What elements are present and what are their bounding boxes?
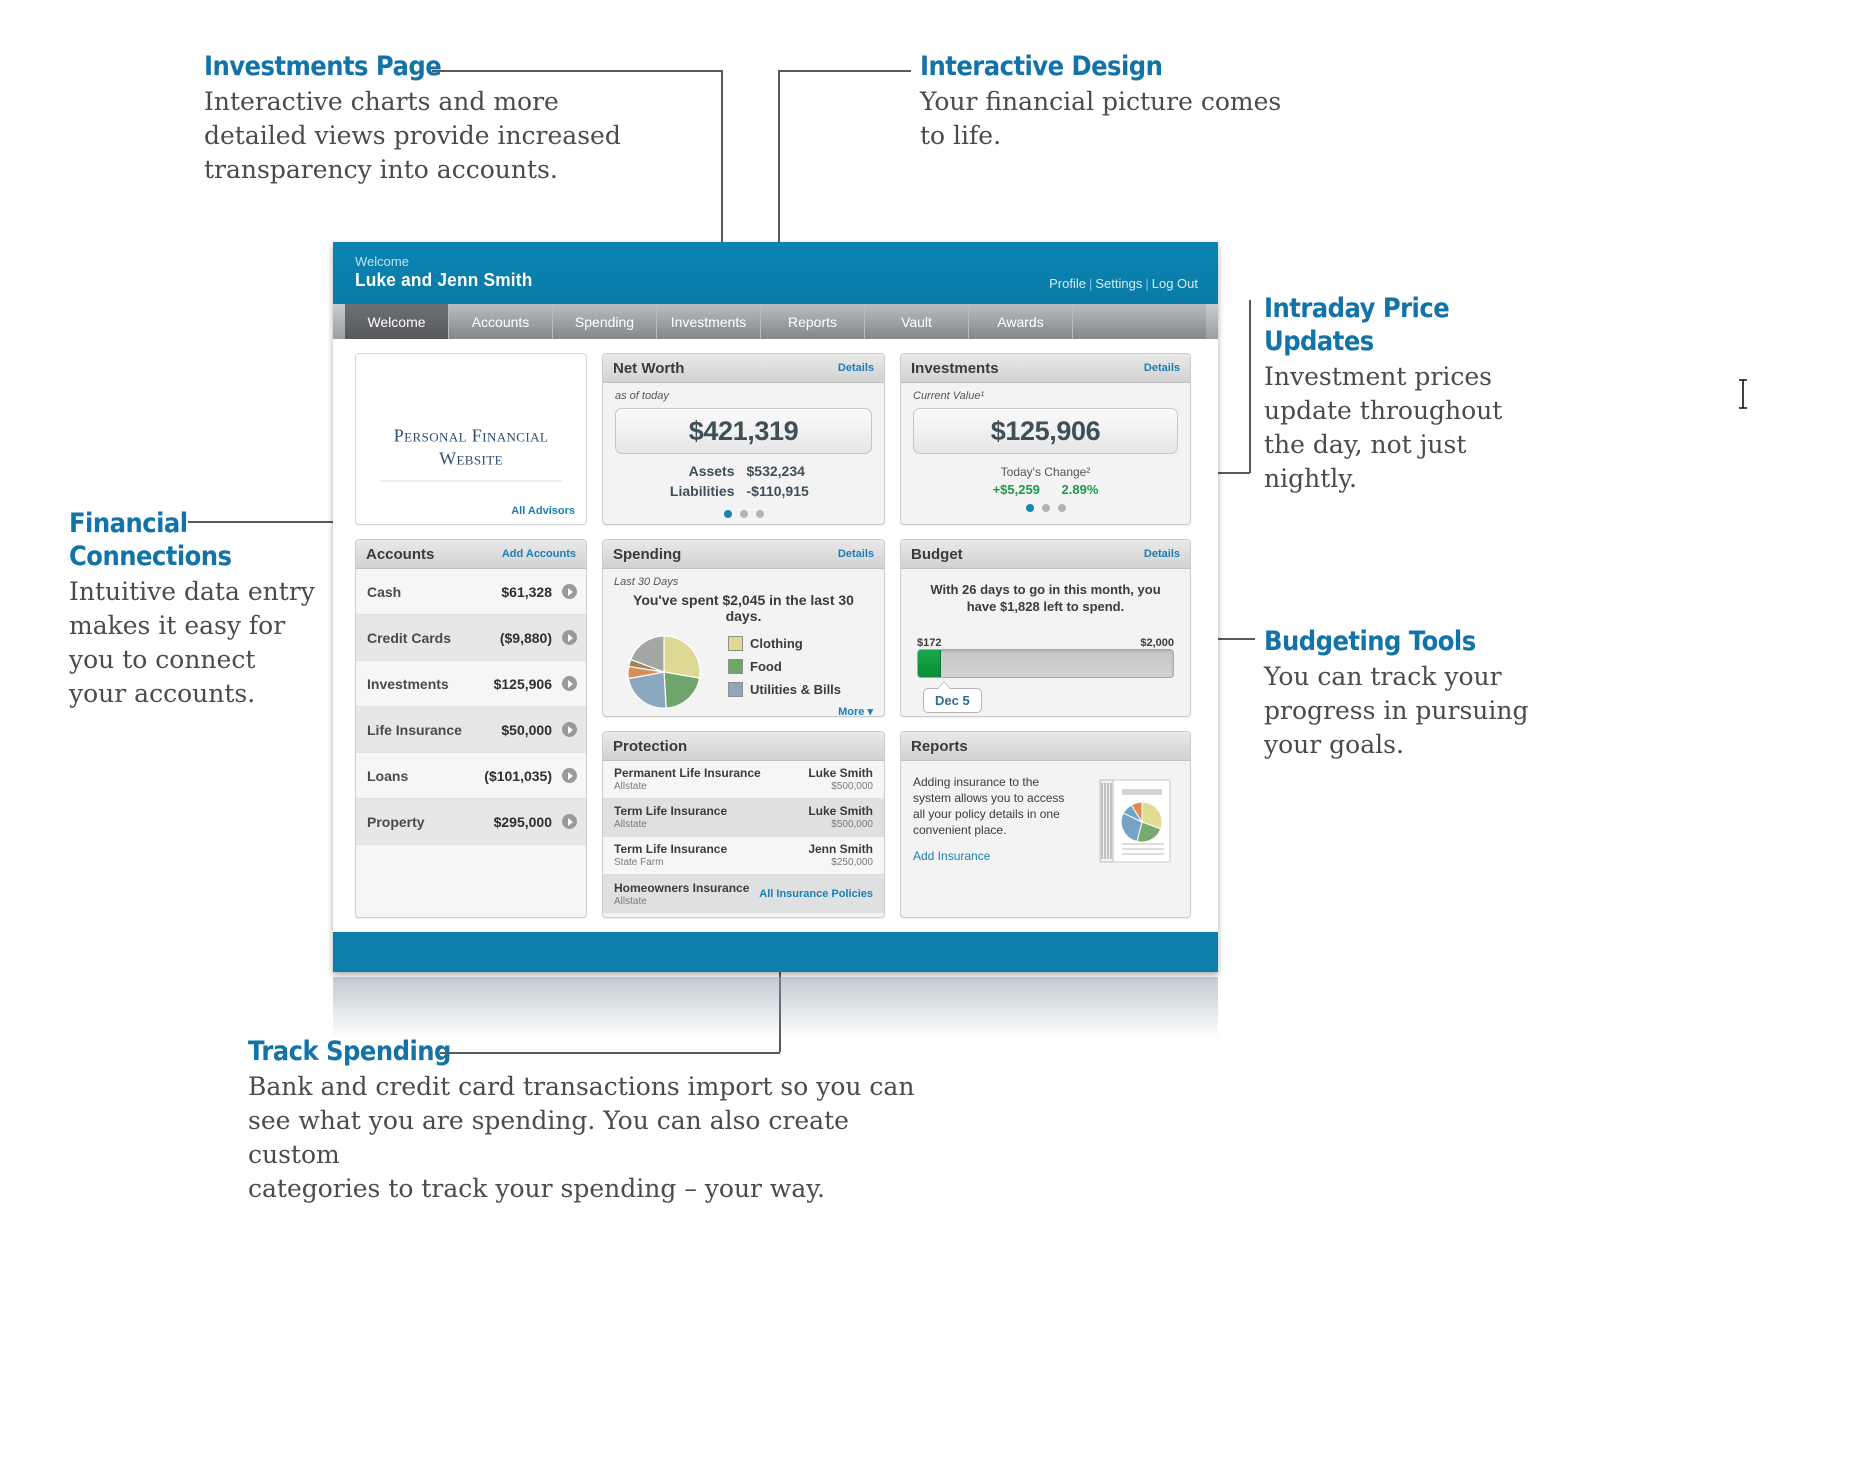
policy-carrier: Allstate: [614, 818, 727, 831]
budget-progress-fill: [918, 650, 941, 677]
policy-owner-info: Luke Smith $500,000: [808, 766, 873, 793]
callout-budgeting-tools: Budgeting Tools You can track your progr…: [1264, 625, 1564, 762]
net-worth-body: as of today $421,319 Assets $532,234 Lia…: [603, 383, 884, 525]
carousel-dot[interactable]: [756, 510, 764, 518]
reports-panel-header: Reports: [901, 732, 1190, 761]
tab-spending[interactable]: Spending: [553, 304, 657, 339]
app-header: Welcome Luke and Jenn Smith Profile|Sett…: [333, 242, 1218, 304]
net-worth-total: $421,319: [689, 416, 798, 447]
all-advisors-link[interactable]: All Advisors: [511, 505, 575, 517]
account-name: Credit Cards: [367, 630, 500, 646]
chevron-right-icon[interactable]: [562, 814, 577, 829]
logo-divider: [380, 480, 562, 481]
investments-carousel-dots: [913, 497, 1178, 521]
legend-item: Clothing: [728, 636, 873, 651]
policy-carrier: State Farm: [614, 856, 727, 869]
spending-legend: Clothing Food Utilities & Bills: [714, 630, 873, 717]
callout-title: Financial Connections: [69, 507, 312, 573]
policy-owner: Luke Smith: [808, 766, 873, 780]
carousel-dot[interactable]: [724, 510, 732, 518]
budget-spent-label: $172: [917, 637, 941, 649]
tab-reports[interactable]: Reports: [761, 304, 865, 339]
profile-link[interactable]: Profile: [1049, 276, 1086, 291]
callout-body: Intuitive data entry makes it easy for y…: [69, 575, 339, 711]
all-policies-cell: All Insurance Policies: [759, 888, 873, 900]
settings-link[interactable]: Settings: [1095, 276, 1142, 291]
liabilities-value: -$110,915: [747, 483, 839, 499]
leader-line-interactive-design: [779, 70, 911, 72]
chevron-right-icon[interactable]: [562, 676, 577, 691]
investments-value-pill: $125,906: [913, 408, 1178, 454]
investments-panel: Investments Details Current Value¹ $125,…: [900, 353, 1191, 525]
policy-amount: $250,000: [808, 856, 873, 869]
account-name: Loans: [367, 768, 484, 784]
policy-amount: $500,000: [808, 780, 873, 793]
budget-details-link[interactable]: Details: [1144, 548, 1180, 560]
accounts-panel: Accounts Add Accounts Cash $61,328 Credi…: [355, 539, 587, 918]
callout-title: Budgeting Tools: [1264, 625, 1534, 658]
report-document-icon: [1082, 774, 1178, 870]
budget-body: With 26 days to go in this month, you ha…: [901, 569, 1190, 713]
window-reflection: [333, 977, 1218, 1039]
spending-more-link[interactable]: More ▾: [728, 705, 873, 717]
application-window: Welcome Luke and Jenn Smith Profile|Sett…: [333, 242, 1218, 972]
legend-swatch-utilities: [728, 682, 743, 697]
spending-title: Spending: [613, 546, 681, 563]
accounts-list-filler: [356, 845, 586, 917]
legend-label: Clothing: [750, 636, 803, 651]
legend-label: Food: [750, 659, 782, 674]
policy-amount: $500,000: [808, 818, 873, 831]
net-worth-liabilities-row: Liabilities -$110,915: [615, 483, 872, 499]
link-separator: |: [1086, 276, 1095, 291]
policy-name: Term Life Insurance: [614, 804, 727, 818]
reports-panel: Reports Adding insurance to the system a…: [900, 731, 1191, 918]
callout-interactive-design: Interactive Design Your financial pictur…: [920, 50, 1320, 153]
spending-details-link[interactable]: Details: [838, 548, 874, 560]
policy-info: Term Life Insurance Allstate: [614, 804, 727, 831]
protection-panel: Protection Permanent Life Insurance Alls…: [602, 731, 885, 918]
table-row[interactable]: Cash $61,328: [356, 569, 586, 615]
spending-panel-header: Spending Details: [603, 540, 884, 569]
legend-swatch-clothing: [728, 636, 743, 651]
spending-period: Last 30 Days: [614, 576, 873, 588]
callout-body: Interactive charts and more detailed vie…: [204, 85, 634, 187]
change-percent: 2.89%: [1053, 482, 1108, 497]
budget-progress-bar[interactable]: [917, 649, 1174, 678]
policy-carrier: Allstate: [614, 895, 749, 908]
net-worth-carousel-dots: [615, 499, 872, 525]
carousel-dot[interactable]: [1042, 504, 1050, 512]
current-value-label: Current Value¹: [913, 390, 1178, 402]
budget-limit-label: $2,000: [1140, 637, 1174, 649]
accounts-panel-header: Accounts Add Accounts: [356, 540, 586, 569]
logout-link[interactable]: Log Out: [1152, 276, 1198, 291]
account-name: Life Insurance: [367, 722, 501, 738]
net-worth-panel-header: Net Worth Details: [603, 354, 884, 383]
carousel-dot[interactable]: [740, 510, 748, 518]
net-worth-assets-row: Assets $532,234: [615, 463, 872, 479]
accounts-title: Accounts: [366, 546, 434, 563]
all-insurance-policies-link[interactable]: All Insurance Policies: [759, 888, 873, 900]
budget-title: Budget: [911, 546, 963, 563]
investments-total: $125,906: [991, 416, 1100, 447]
protection-list: Permanent Life Insurance Allstate Luke S…: [603, 761, 884, 917]
account-value: ($101,035): [484, 768, 562, 784]
policy-name: Term Life Insurance: [614, 842, 727, 856]
investments-body: Current Value¹ $125,906 Today's Change² …: [901, 383, 1190, 521]
logo-line-2: Website: [356, 447, 586, 470]
add-accounts-link[interactable]: Add Accounts: [502, 548, 576, 560]
dashboard-grid: Personal Financial Website All Advisors …: [355, 353, 1196, 918]
tab-bar-filler: [1073, 304, 1206, 339]
spending-headline: You've spent $2,045 in the last 30 days.: [614, 592, 873, 624]
account-value: $61,328: [501, 584, 562, 600]
table-row[interactable]: Credit Cards ($9,880): [356, 615, 586, 661]
legend-swatch-food: [728, 659, 743, 674]
app-content: Personal Financial Website All Advisors …: [333, 339, 1218, 932]
callout-body: Bank and credit card transactions import…: [248, 1070, 948, 1206]
table-row[interactable]: Term Life Insurance Allstate Luke Smith …: [603, 799, 884, 837]
tab-awards[interactable]: Awards: [969, 304, 1073, 339]
callout-intraday-price-updates: Intraday Price Updates Investment prices…: [1264, 292, 1564, 496]
net-worth-title: Net Worth: [613, 360, 684, 377]
policy-info: Term Life Insurance State Farm: [614, 842, 727, 869]
policy-info: Homeowners Insurance Allstate: [614, 881, 749, 908]
policy-owner-info: Jenn Smith $250,000: [808, 842, 873, 869]
callout-body: You can track your progress in pursuing …: [1264, 660, 1564, 762]
advisor-logo-card: Personal Financial Website All Advisors: [355, 353, 587, 525]
net-worth-as-of: as of today: [615, 390, 872, 402]
tab-welcome[interactable]: Welcome: [345, 304, 449, 339]
tab-accounts[interactable]: Accounts: [449, 304, 553, 339]
policy-owner: Jenn Smith: [808, 842, 873, 856]
liabilities-label: Liabilities: [649, 483, 747, 499]
net-worth-details-link[interactable]: Details: [838, 362, 874, 374]
callout-title: Intraday Price Updates: [1264, 292, 1534, 358]
table-row[interactable]: Permanent Life Insurance Allstate Luke S…: [603, 761, 884, 799]
text-cursor-icon: [1737, 378, 1749, 410]
protection-panel-header: Protection: [603, 732, 884, 761]
policy-name: Homeowners Insurance: [614, 881, 749, 895]
carousel-dot[interactable]: [1058, 504, 1066, 512]
budget-panel-header: Budget Details: [901, 540, 1190, 569]
leader-line-track-spending: [440, 1052, 780, 1054]
assets-label: Assets: [649, 463, 747, 479]
policy-owner-info: Luke Smith $500,000: [808, 804, 873, 831]
welcome-label: Welcome: [355, 254, 1200, 269]
table-row[interactable]: Property $295,000: [356, 799, 586, 845]
chevron-right-icon[interactable]: [562, 722, 577, 737]
todays-change-label: Today's Change²: [913, 465, 1178, 479]
callout-body: Your financial picture comes to life.: [920, 85, 1320, 153]
spending-pie-chart: [614, 630, 714, 710]
policy-info: Permanent Life Insurance Allstate: [614, 766, 761, 793]
reports-description: Adding insurance to the system allows yo…: [913, 774, 1082, 838]
callout-financial-connections: Financial Connections Intuitive data ent…: [69, 507, 339, 711]
budget-headline: With 26 days to go in this month, you ha…: [917, 581, 1174, 615]
assets-value: $532,234: [747, 463, 839, 479]
chevron-right-icon[interactable]: [562, 768, 577, 783]
spending-body: Last 30 Days You've spent $2,045 in the …: [603, 569, 884, 717]
tab-bar: Welcome Accounts Spending Investments Re…: [333, 304, 1218, 339]
leader-line-intraday-vertical: [1249, 300, 1251, 473]
policy-owner: Luke Smith: [808, 804, 873, 818]
account-name: Property: [367, 814, 494, 830]
policy-name: Permanent Life Insurance: [614, 766, 761, 780]
account-value: ($9,880): [500, 630, 562, 646]
tab-vault[interactable]: Vault: [865, 304, 969, 339]
callout-title: Investments Page: [204, 50, 591, 83]
callout-body: Investment prices update throughout the …: [1264, 360, 1564, 496]
budget-date-marker: Dec 5: [923, 688, 982, 713]
spending-panel: Spending Details Last 30 Days You've spe…: [602, 539, 885, 717]
table-row[interactable]: Investments $125,906: [356, 661, 586, 707]
add-insurance-link[interactable]: Add Insurance: [913, 849, 1082, 863]
net-worth-panel: Net Worth Details as of today $421,319 A…: [602, 353, 885, 525]
account-value: $50,000: [501, 722, 562, 738]
reports-body: Adding insurance to the system allows yo…: [901, 761, 1190, 870]
protection-title: Protection: [613, 738, 687, 755]
spending-chart-area: Clothing Food Utilities & Bills: [614, 630, 873, 717]
link-separator: |: [1142, 276, 1151, 291]
table-row[interactable]: Life Insurance $50,000: [356, 707, 586, 753]
table-row[interactable]: Homeowners Insurance Allstate All Insura…: [603, 875, 884, 913]
investments-details-link[interactable]: Details: [1144, 362, 1180, 374]
account-name: Cash: [367, 584, 501, 600]
account-value: $125,906: [494, 676, 562, 692]
table-row[interactable]: Term Life Insurance State Farm Jenn Smit…: [603, 837, 884, 875]
header-links: Profile|Settings|Log Out: [1049, 276, 1198, 291]
leader-line-investments-page: [432, 70, 722, 72]
policy-carrier: Allstate: [614, 780, 761, 793]
chevron-right-icon[interactable]: [562, 630, 577, 645]
budget-panel: Budget Details With 26 days to go in thi…: [900, 539, 1191, 717]
user-name: Luke and Jenn Smith: [355, 269, 1166, 291]
net-worth-value-pill: $421,319: [615, 408, 872, 454]
more-label: More: [838, 706, 864, 717]
chevron-right-icon[interactable]: [562, 584, 577, 599]
change-amount: +$5,259: [984, 482, 1049, 497]
legend-label: Utilities & Bills: [750, 682, 841, 697]
investments-panel-header: Investments Details: [901, 354, 1190, 383]
logo-line-1: Personal Financial: [356, 424, 586, 447]
reports-title: Reports: [911, 738, 968, 755]
investments-title: Investments: [911, 360, 999, 377]
account-value: $295,000: [494, 814, 562, 830]
callout-title: Interactive Design: [920, 50, 1280, 83]
carousel-dot[interactable]: [1026, 504, 1034, 512]
callout-track-spending: Track Spending Bank and credit card tran…: [248, 1035, 948, 1206]
budget-bar-labels: $172 $2,000: [917, 637, 1174, 649]
accounts-list: Cash $61,328 Credit Cards ($9,880) Inves…: [356, 569, 586, 917]
account-name: Investments: [367, 676, 494, 692]
todays-change-values: +$5,259 2.89%: [913, 482, 1178, 497]
tab-investments[interactable]: Investments: [657, 304, 761, 339]
legend-item: Food: [728, 659, 873, 674]
table-row[interactable]: Loans ($101,035): [356, 753, 586, 799]
advisor-logo: Personal Financial Website: [356, 424, 586, 481]
legend-item: Utilities & Bills: [728, 682, 873, 697]
